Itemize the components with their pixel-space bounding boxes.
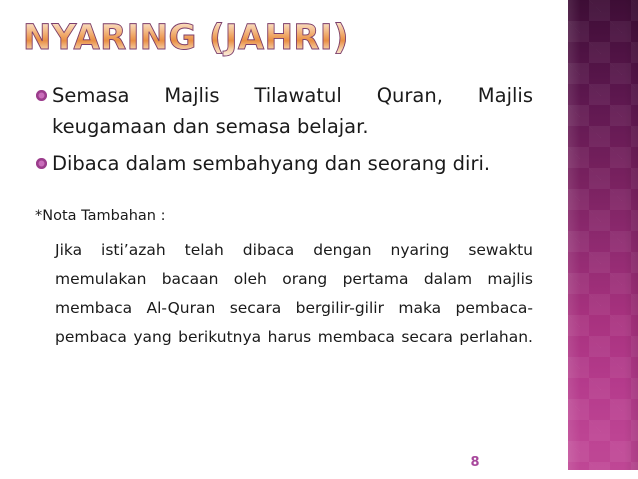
list-item: Dibaca dalam sembahyang dan seorang diri… (0, 148, 545, 179)
note-label: *Nota Tambahan : (35, 205, 545, 227)
list-item-text: Dibaca dalam sembahyang dan seorang diri… (52, 148, 533, 179)
page-number: 8 (455, 455, 495, 470)
bullseye-bullet-icon (36, 158, 47, 169)
side-panel-sheen (568, 0, 638, 470)
bullet-list: Semasa Majlis Tilawatul Quran, Majlis ke… (0, 80, 545, 179)
list-item: Semasa Majlis Tilawatul Quran, Majlis ke… (0, 80, 545, 142)
page-title: Nyaring (Jahri) (23, 16, 508, 60)
title-block: Nyaring (Jahri) (23, 16, 523, 64)
bullseye-bullet-icon (36, 90, 47, 101)
note-paragraph: Jika isti’azah telah dibaca dengan nyari… (55, 236, 533, 381)
list-item-text: Semasa Majlis Tilawatul Quran, Majlis ke… (52, 80, 533, 142)
slide-canvas: Nyaring (Jahri) Semasa Majlis Tilawatul … (0, 0, 638, 479)
decorative-side-panel (568, 0, 638, 470)
slide-content: Semasa Majlis Tilawatul Quran, Majlis ke… (0, 80, 545, 381)
